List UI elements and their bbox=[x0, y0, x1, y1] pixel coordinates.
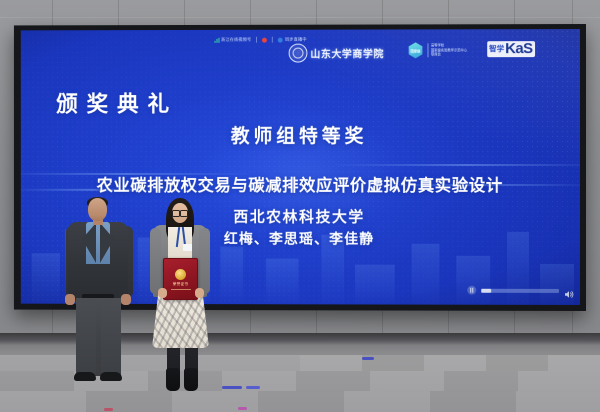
broadcast-badge: 浙江在线视频号 bbox=[215, 37, 252, 43]
signal-bars-icon bbox=[215, 37, 220, 42]
floor-tile bbox=[548, 355, 600, 371]
divider bbox=[272, 37, 273, 43]
blue-dot-icon bbox=[278, 37, 283, 42]
hand-left bbox=[65, 294, 75, 305]
wall-trim-line bbox=[0, 17, 600, 18]
certificate-rule bbox=[171, 289, 191, 290]
center-line-3: 联席会 bbox=[431, 52, 467, 56]
floor-tile bbox=[86, 391, 172, 412]
experiment-center-text: 高等学校 国家级实验教学示范中心 联席会 bbox=[427, 44, 467, 57]
head bbox=[88, 198, 107, 221]
floor-tile bbox=[296, 371, 370, 391]
floor-tile bbox=[518, 371, 600, 391]
gold-seal-icon bbox=[175, 269, 186, 280]
floor-tile bbox=[300, 355, 362, 371]
floor-tile bbox=[516, 391, 600, 412]
floor-marker bbox=[238, 407, 247, 410]
broadcast-badge-label: 浙江在线视频号 bbox=[221, 37, 251, 43]
floor-tile bbox=[486, 355, 548, 371]
award-certificate: 荣誉证书 bbox=[163, 258, 198, 300]
screen-header: 浙江在线视频号 同步直播中 山东大学商学院 国家级 bbox=[21, 33, 580, 74]
presenter-person bbox=[62, 198, 140, 383]
boot-left bbox=[166, 368, 180, 391]
divider bbox=[256, 37, 257, 43]
red-dot-icon bbox=[262, 37, 267, 42]
floor-marker bbox=[362, 357, 374, 360]
hand-left bbox=[158, 288, 167, 298]
kas-brand-cn: 智学 bbox=[489, 45, 504, 53]
hand-right bbox=[195, 288, 204, 298]
name-badge bbox=[183, 244, 192, 251]
floor-tile bbox=[0, 391, 86, 412]
floor-marker bbox=[104, 408, 113, 411]
shandong-university-logo: 山东大学商学院 bbox=[289, 43, 384, 62]
arm-left bbox=[150, 228, 161, 294]
floor-tile bbox=[344, 391, 430, 412]
trouser-leg bbox=[76, 298, 96, 376]
screen-light-streak bbox=[333, 164, 580, 166]
floor-tile bbox=[370, 371, 444, 391]
broadcast-badge: 同步直播中 bbox=[278, 37, 307, 43]
arm-right bbox=[199, 228, 210, 294]
project-title: 农业碳排放权交易与碳减排效应评价虚拟仿真实验设计 bbox=[21, 172, 580, 196]
kas-brand-logo: 智学 KaS bbox=[487, 41, 535, 57]
pause-icon[interactable] bbox=[467, 286, 476, 295]
boot-right bbox=[184, 368, 198, 391]
broadcast-badges: 浙江在线视频号 同步直播中 bbox=[215, 37, 307, 43]
ceremony-title: 颁奖典礼 bbox=[56, 87, 178, 119]
award-name: 教师组特等奖 bbox=[21, 121, 580, 148]
broadcast-badge-label: 同步直播中 bbox=[285, 37, 307, 43]
experiment-center-logo: 国家级 高等学校 国家级实验教学示范中心 联席会 bbox=[408, 42, 467, 58]
floor-tile bbox=[258, 391, 344, 412]
award-recipient-person: 荣誉证书 bbox=[147, 200, 217, 392]
shoe-left bbox=[74, 372, 96, 381]
progress-scrubber[interactable] bbox=[481, 288, 559, 292]
screenshot-root: 浙江在线视频号 同步直播中 山东大学商学院 国家级 bbox=[0, 0, 600, 412]
floor-marker bbox=[222, 386, 242, 389]
volume-on-icon[interactable] bbox=[564, 286, 575, 295]
hexagon-badge-icon: 国家级 bbox=[408, 42, 424, 58]
shoe-right bbox=[100, 372, 122, 381]
floor-tile bbox=[430, 391, 516, 412]
certificate-label: 荣誉证书 bbox=[173, 282, 189, 287]
eyeglasses-icon bbox=[172, 211, 188, 216]
floor-tile bbox=[424, 355, 486, 371]
kas-brand-en: KaS bbox=[505, 42, 532, 56]
shandong-university-seal-icon bbox=[289, 44, 308, 63]
floor-tile bbox=[444, 371, 518, 391]
trouser-leg bbox=[101, 298, 121, 376]
shandong-university-label: 山东大学商学院 bbox=[310, 45, 384, 60]
progress-fill bbox=[481, 288, 491, 292]
floor-marker bbox=[246, 386, 260, 389]
media-player-controls[interactable] bbox=[467, 285, 575, 296]
hand-right bbox=[121, 294, 131, 305]
hexagon-badge-text: 国家级 bbox=[410, 48, 420, 53]
